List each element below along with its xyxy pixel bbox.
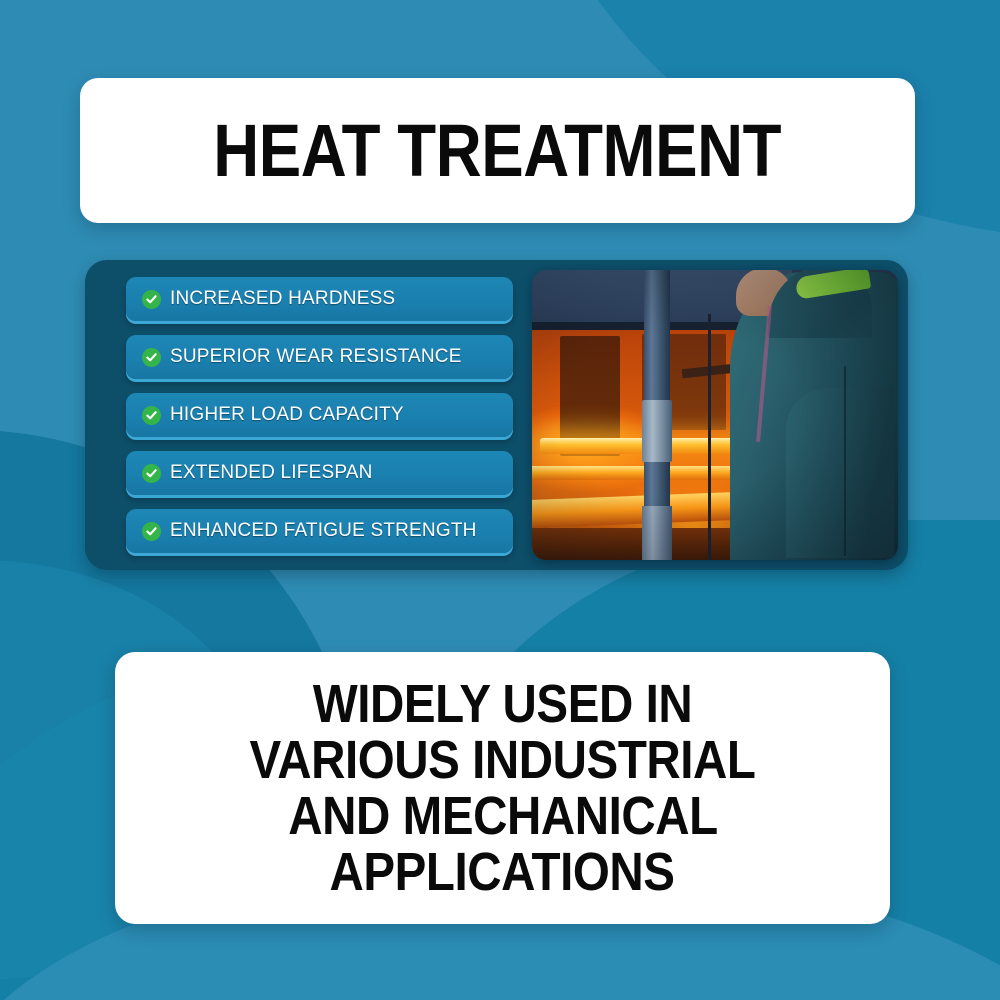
- list-item-label: SUPERIOR WEAR RESISTANCE: [170, 346, 462, 368]
- list-item-label: INCREASED HARDNESS: [170, 288, 395, 310]
- check-circle-icon: [142, 464, 161, 483]
- check-circle-icon: [142, 348, 161, 367]
- statement-card: WIDELY USED IN VARIOUS INDUSTRIAL AND ME…: [115, 652, 890, 924]
- list-item[interactable]: HIGHER LOAD CAPACITY: [126, 393, 513, 437]
- benefits-list: INCREASED HARDNESS SUPERIOR WEAR RESISTA…: [85, 260, 530, 570]
- check-circle-icon: [142, 406, 161, 425]
- check-circle-icon: [142, 522, 161, 541]
- list-item[interactable]: INCREASED HARDNESS: [126, 277, 513, 321]
- statement-line: APPLICATIONS: [330, 844, 675, 900]
- list-item[interactable]: EXTENDED LIFESPAN: [126, 451, 513, 495]
- statement-line: VARIOUS INDUSTRIAL: [249, 732, 755, 788]
- title-card: HEAT TREATMENT: [80, 78, 915, 223]
- statement-line: AND MECHANICAL: [288, 788, 717, 844]
- photo-vignette: [532, 270, 898, 560]
- list-item[interactable]: ENHANCED FATIGUE STRENGTH: [126, 509, 513, 553]
- check-circle-icon: [142, 290, 161, 309]
- list-item-label: ENHANCED FATIGUE STRENGTH: [170, 520, 477, 542]
- page-title: HEAT TREATMENT: [214, 114, 782, 188]
- list-item-label: HIGHER LOAD CAPACITY: [170, 404, 404, 426]
- heat-treatment-photo: [532, 270, 898, 560]
- statement-line: WIDELY USED IN: [313, 676, 692, 732]
- list-item[interactable]: SUPERIOR WEAR RESISTANCE: [126, 335, 513, 379]
- benefits-panel: INCREASED HARDNESS SUPERIOR WEAR RESISTA…: [85, 260, 908, 570]
- poster-canvas: HEAT TREATMENT INCREASED HARDNESS SUPERI…: [0, 0, 1000, 1000]
- list-item-label: EXTENDED LIFESPAN: [170, 462, 373, 484]
